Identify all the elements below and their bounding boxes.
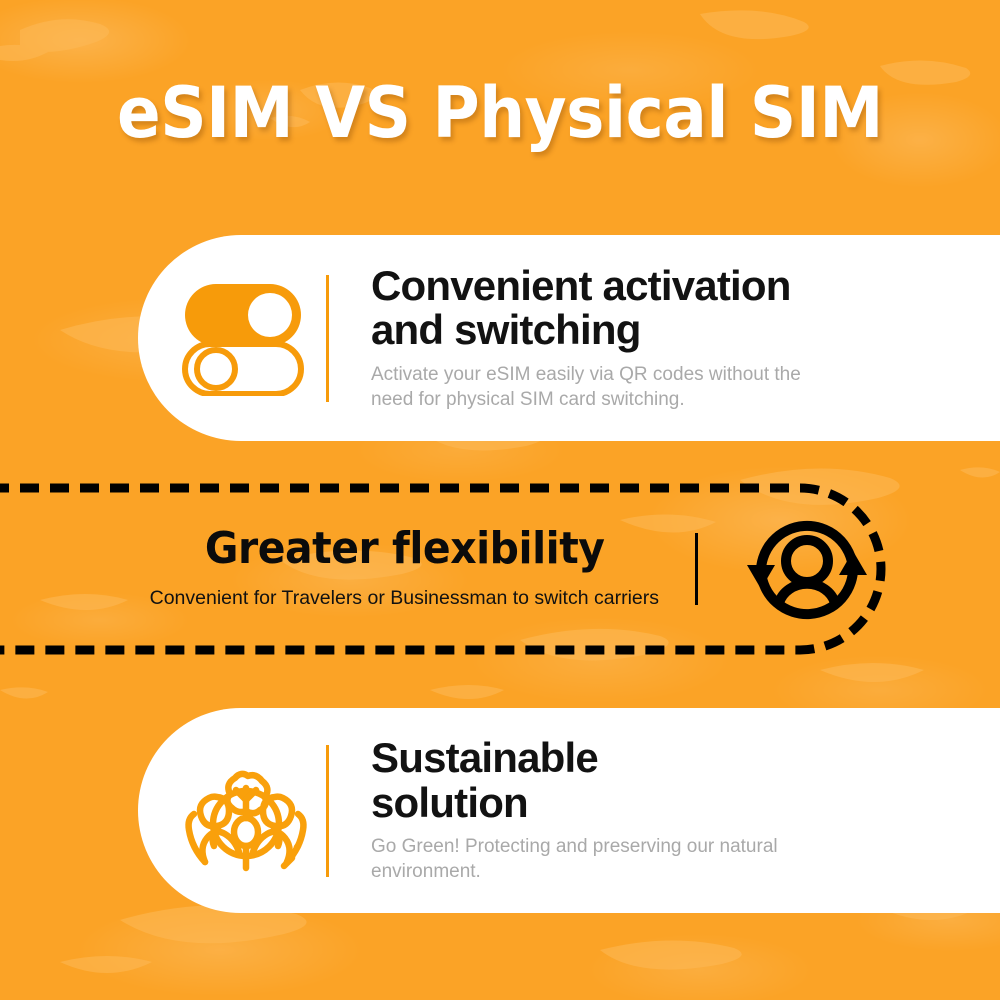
card-greater-flexibility: Greater flexibility Convenient for Trave… [0, 483, 890, 655]
user-refresh-icon [732, 505, 882, 633]
card-body-text: Go Green! Protecting and preserving our … [371, 835, 841, 884]
card-body-text: Activate your eSIM easily via QR codes w… [371, 363, 841, 412]
band-body-text: Convenient for Travelers or Businessman … [150, 587, 659, 610]
card-text-block: Sustainable solution Go Green! Protectin… [329, 736, 1000, 884]
band-text-block: Greater flexibility Convenient for Trave… [150, 527, 695, 610]
page-title: eSIM VS Physical SIM [40, 78, 960, 148]
people-earth-tree-icon [166, 748, 326, 874]
band-content: Greater flexibility Convenient for Trave… [0, 483, 890, 655]
card-heading: Convenient activation and switching [371, 264, 1000, 353]
card-sustainable-solution: Sustainable solution Go Green! Protectin… [138, 708, 1000, 913]
toggle-switches-icon [166, 280, 326, 396]
card-convenient-activation: Convenient activation and switching Acti… [138, 235, 1000, 441]
band-divider [695, 533, 698, 605]
band-heading: Greater flexibility [167, 527, 641, 571]
infographic-canvas: eSIM VS Physical SIM Convenient activati… [0, 0, 1000, 1000]
card-text-block: Convenient activation and switching Acti… [329, 264, 1000, 412]
card-heading: Sustainable solution [371, 736, 1000, 825]
